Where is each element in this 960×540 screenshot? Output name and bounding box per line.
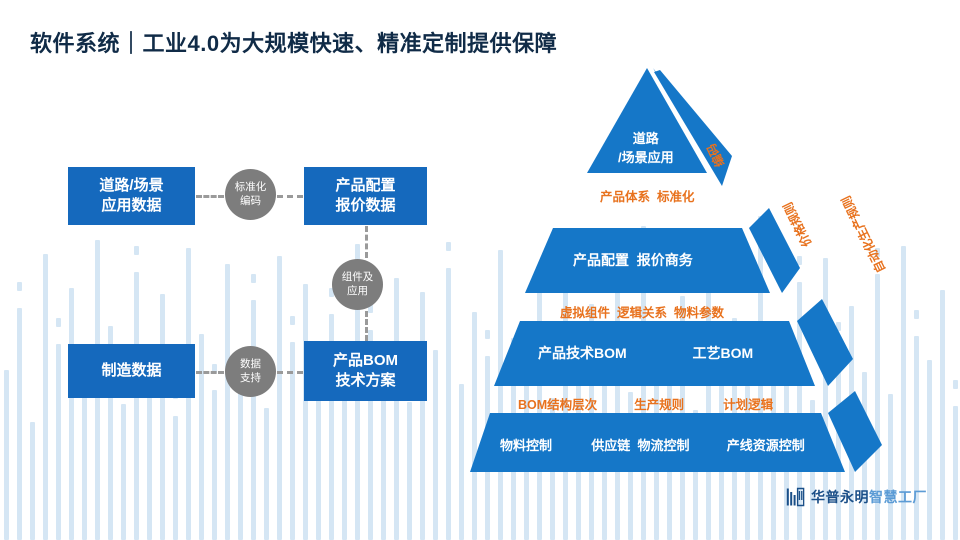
flow-box-bom-line1: 产品BOM xyxy=(333,352,398,369)
connector-cfg-to-comp xyxy=(365,226,368,258)
company-logo: 华普永明 智慧工厂 xyxy=(786,487,927,507)
flow-box-bom-line2: 技术方案 xyxy=(335,372,395,389)
connector-std-to-cfg xyxy=(277,195,303,198)
pyramid-tier2-label: 产品配置 报价商务 xyxy=(573,250,693,270)
connector-node-standardized-coding[interactable]: 标准化 编码 xyxy=(225,169,276,220)
connector-node-data-support[interactable]: 数据 支持 xyxy=(225,346,276,397)
flow-box-road-line2: 应用数据 xyxy=(101,197,161,214)
flow-box-road-line1: 道路/场景 xyxy=(99,177,163,194)
flow-box-road-scene-data[interactable]: 道路/场景 应用数据 xyxy=(68,167,195,225)
flow-box-cfg-line1: 产品配置 xyxy=(335,177,395,194)
page-title: 软件系统｜工业4.0为大规模快速、精准定制提供保障 xyxy=(30,26,557,58)
logo-name-primary: 华普永明 xyxy=(811,487,869,507)
factory-bars-icon xyxy=(786,487,806,507)
flow-box-cfg-line2: 报价数据 xyxy=(335,197,395,214)
capability-pyramid-diagram: 道路 /场景应用 产品配置 报价商务 产品技术BOM 工艺BOM 物料控制 供应… xyxy=(470,60,940,480)
circle-std-line2: 编码 xyxy=(240,195,261,207)
connector-data-to-bom xyxy=(277,371,303,374)
pyramid-gap3-labels: BOM结构层次 生产规则 计划逻辑 xyxy=(518,394,773,413)
pyramid-gap1-labels: 产品体系 标准化 xyxy=(600,186,694,205)
slide-canvas: 软件系统｜工业4.0为大规模快速、精准定制提供保障 道路/场景 应用数据 产品配… xyxy=(0,0,960,540)
connector-node-component-and-application[interactable]: 组件及 应用 xyxy=(332,259,383,310)
flow-box-product-bom-tech-plan[interactable]: 产品BOM 技术方案 xyxy=(304,341,427,401)
connector-comp-to-bom xyxy=(365,311,368,341)
flow-box-product-config-quote-data[interactable]: 产品配置 报价数据 xyxy=(304,167,427,225)
circle-comp-line1: 组件及 xyxy=(342,271,374,283)
flow-box-manufacturing-data[interactable]: 制造数据 xyxy=(68,344,195,398)
circle-data-line2: 支持 xyxy=(240,372,261,384)
logo-name-secondary: 智慧工厂 xyxy=(869,487,927,507)
circle-comp-line2: 应用 xyxy=(347,285,368,297)
pyramid-tier3-label: 产品技术BOM 工艺BOM xyxy=(538,343,753,363)
pyramid-tier4-label: 物料控制 供应链 物流控制 产线资源控制 xyxy=(500,435,805,454)
pyramid-shapes xyxy=(470,60,940,480)
circle-std-line1: 标准化 xyxy=(235,181,267,193)
pyramid-gap2-labels: 虚拟组件 逻辑关系 物料参数 xyxy=(560,302,724,321)
pyramid-tier1-label: 道路 /场景应用 xyxy=(618,128,674,166)
circle-data-line1: 数据 xyxy=(240,358,261,370)
flow-box-mfg-line1: 制造数据 xyxy=(101,361,161,381)
connector-road-to-std xyxy=(196,195,224,198)
connector-mfg-to-data xyxy=(196,371,224,374)
